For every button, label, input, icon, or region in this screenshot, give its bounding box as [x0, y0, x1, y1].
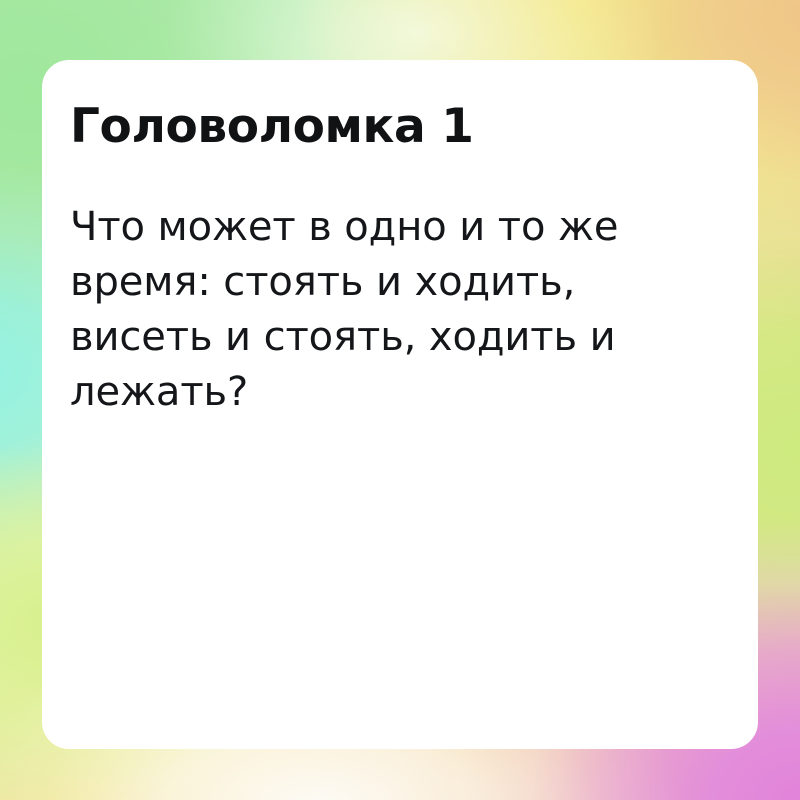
card-body-text: Что может в одно и то же время: стоять и…	[70, 151, 675, 420]
card-title: Головоломка 1	[70, 103, 712, 151]
riddle-card: Головоломка 1 Что может в одно и то же в…	[42, 60, 758, 749]
slide-canvas: Головоломка 1 Что может в одно и то же в…	[0, 0, 800, 800]
